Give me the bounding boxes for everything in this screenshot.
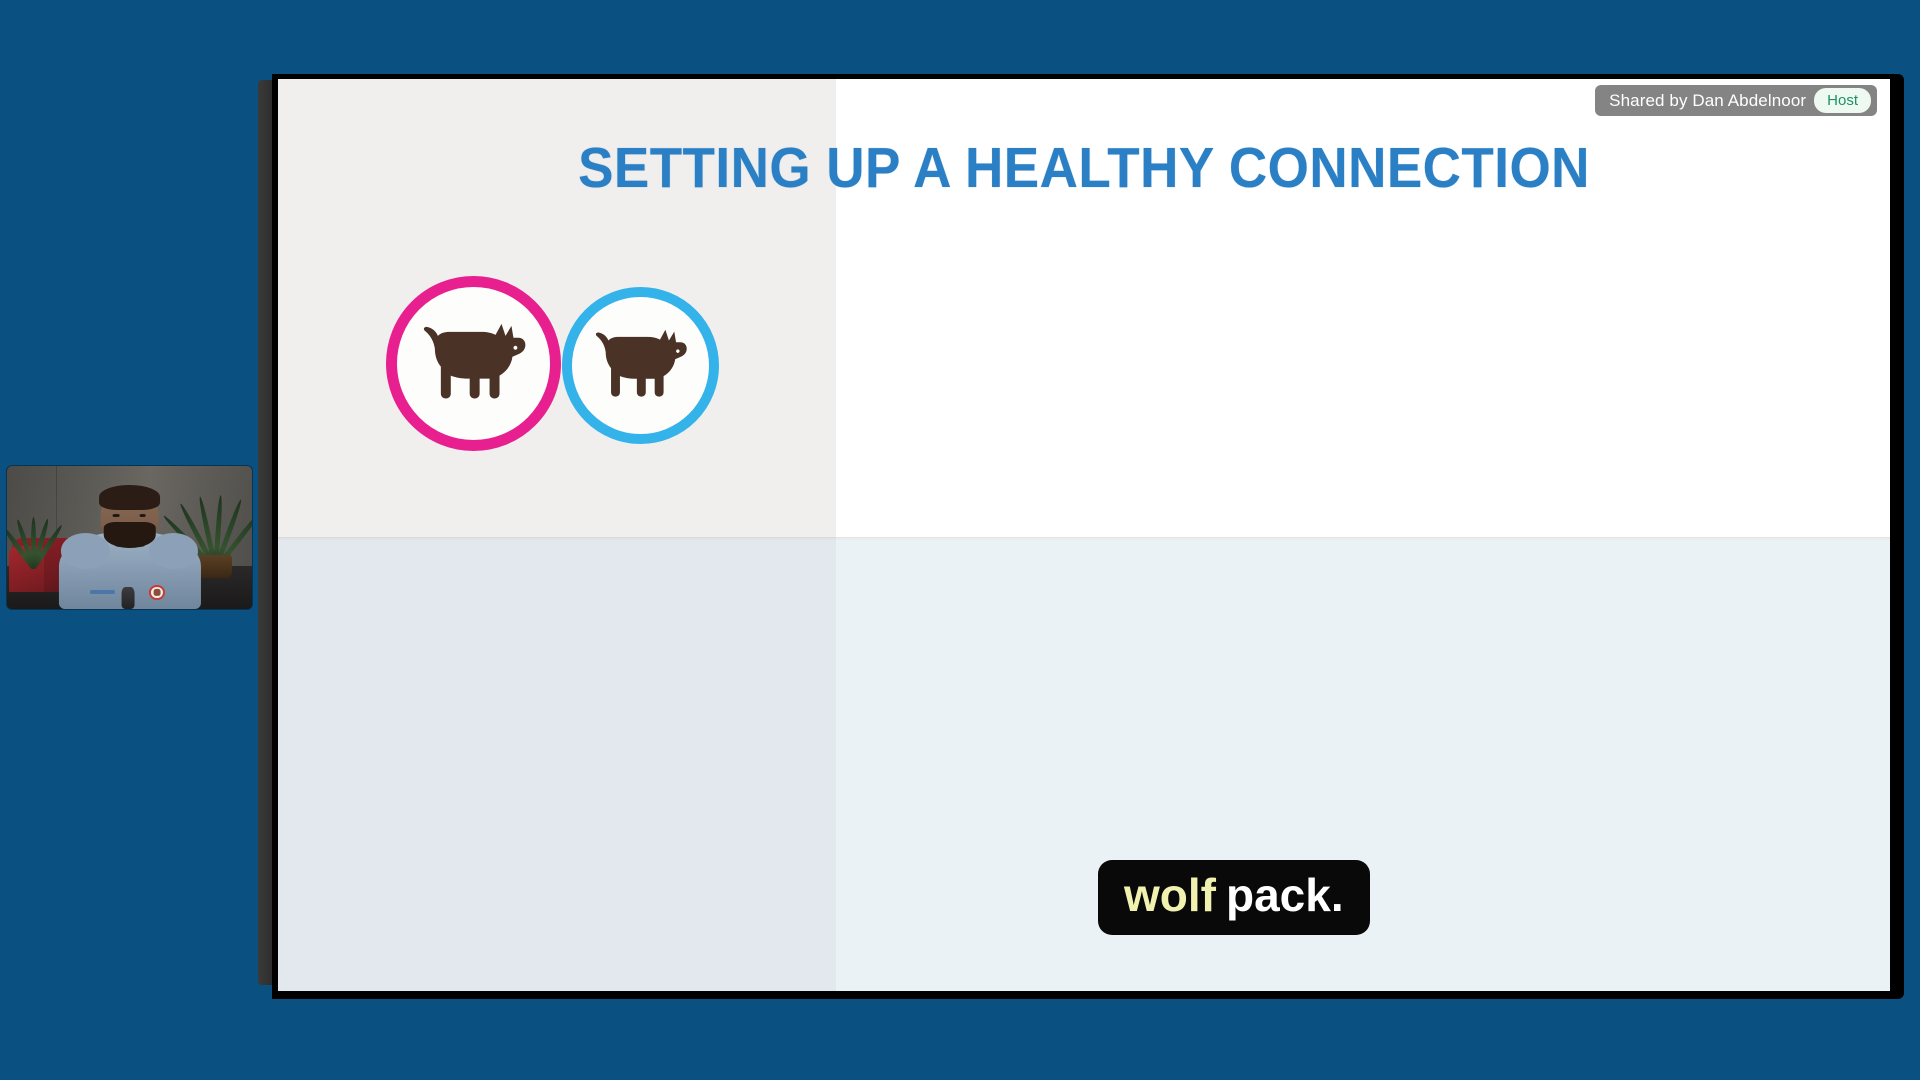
person-head [100, 489, 159, 546]
caption-highlight-word: wolf [1124, 870, 1216, 921]
host-role-pill: Host [1814, 88, 1871, 114]
hoodie-logo [90, 590, 116, 594]
person-eye-right [140, 514, 146, 517]
dog-badge-blue [562, 287, 719, 444]
microphone [122, 587, 135, 609]
shared-screen-frame: SETTING UP A HEALTHY CONNECTION wolf pac… [258, 74, 1904, 999]
person-hair [99, 485, 160, 509]
shared-by-badge: Shared by Dan Abdelnoor Host [1595, 85, 1877, 116]
live-caption: wolf pack. [1098, 860, 1370, 935]
shared-by-label: Shared by Dan Abdelnoor [1609, 91, 1806, 111]
hoodie-shoulder-left [61, 533, 109, 569]
slide-quadrant-bottom-left [278, 539, 836, 991]
dog-badge-pink [386, 276, 561, 451]
slide-horizontal-seam [278, 537, 1890, 540]
hoodie-shoulder-right [149, 533, 197, 569]
meeting-stage: SETTING UP A HEALTHY CONNECTION wolf pac… [0, 0, 1920, 1080]
self-view-thumbnail[interactable] [7, 466, 252, 609]
caption-rest-text: pack. [1226, 870, 1344, 921]
slide-title: SETTING UP A HEALTHY CONNECTION [334, 135, 1833, 201]
dog-silhouette-icon [414, 304, 533, 423]
hoodie-patch-badge [149, 585, 165, 600]
presentation-slide[interactable]: SETTING UP A HEALTHY CONNECTION wolf pac… [278, 79, 1890, 991]
person-beard [104, 522, 156, 548]
camera-video-frame [7, 466, 252, 609]
dog-silhouette-icon [587, 312, 694, 419]
plant-left [12, 517, 51, 568]
person-eye-left [113, 514, 119, 517]
